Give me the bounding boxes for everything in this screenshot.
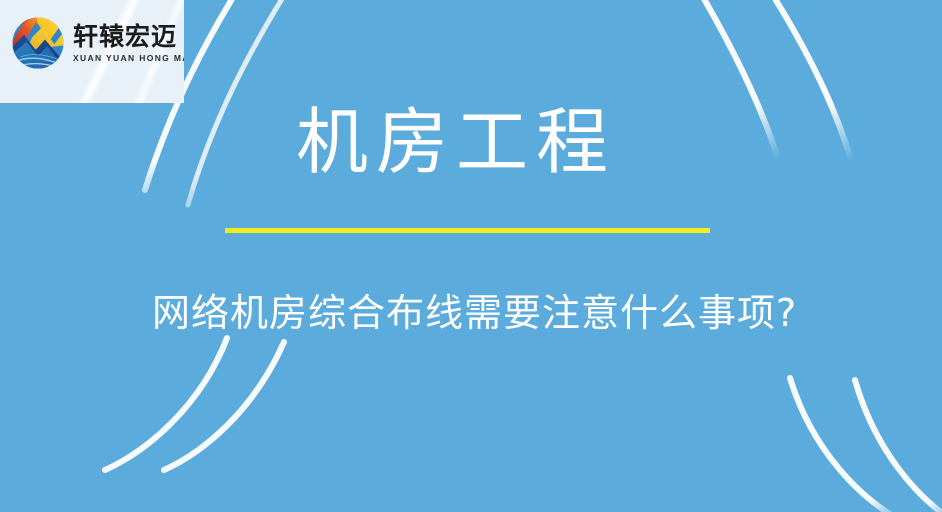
company-emblem-icon	[9, 14, 67, 72]
company-name-en: XUAN YUAN HONG MAI	[73, 54, 184, 63]
logo-plate: 轩辕宏迈 XUAN YUAN HONG MAI	[0, 0, 184, 103]
page-title: 机房工程	[296, 106, 616, 178]
promotional-banner: 轩辕宏迈 XUAN YUAN HONG MAI 机房工程 网络机房综合布线需要注…	[0, 0, 942, 512]
company-name-cn: 轩辕宏迈	[73, 24, 184, 49]
company-wordmark: 轩辕宏迈 XUAN YUAN HONG MAI	[73, 24, 184, 63]
title-divider	[225, 228, 710, 233]
company-logo[interactable]: 轩辕宏迈 XUAN YUAN HONG MAI	[9, 14, 184, 72]
page-subtitle: 网络机房综合布线需要注意什么事项?	[152, 292, 797, 336]
